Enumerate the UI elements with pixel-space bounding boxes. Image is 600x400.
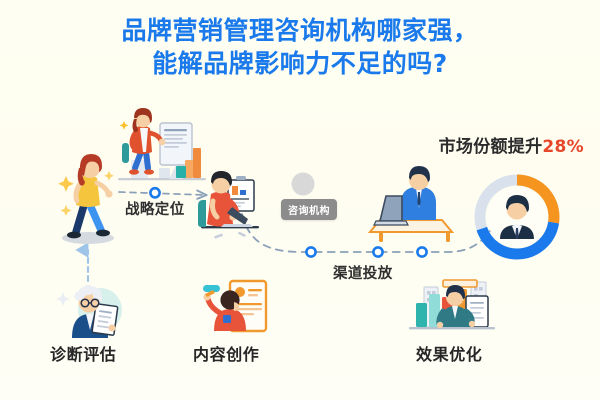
flow-label-strategy: 战略定位 xyxy=(125,198,185,219)
flow-label-channel: 渠道投放 xyxy=(333,262,393,283)
flow-node-1 xyxy=(306,247,315,256)
flow-node-2 xyxy=(373,247,382,256)
connector-walker-to-strategy xyxy=(119,192,205,195)
step-label-effect: 效果优化 xyxy=(416,341,482,365)
flow-node-3 xyxy=(417,247,426,256)
infographic-canvas: 品牌营销管理咨询机构哪家强， 能解品牌影响力不足的吗? 市场份额提升28% xyxy=(0,0,600,400)
step-label-content: 内容创作 xyxy=(193,341,259,365)
connector-main-flow-curve xyxy=(242,214,492,252)
agency-badge: 咨询机构 xyxy=(281,199,337,220)
flow-node-strategy xyxy=(150,188,159,197)
step-label-diagnosis: 诊断评估 xyxy=(50,341,116,365)
